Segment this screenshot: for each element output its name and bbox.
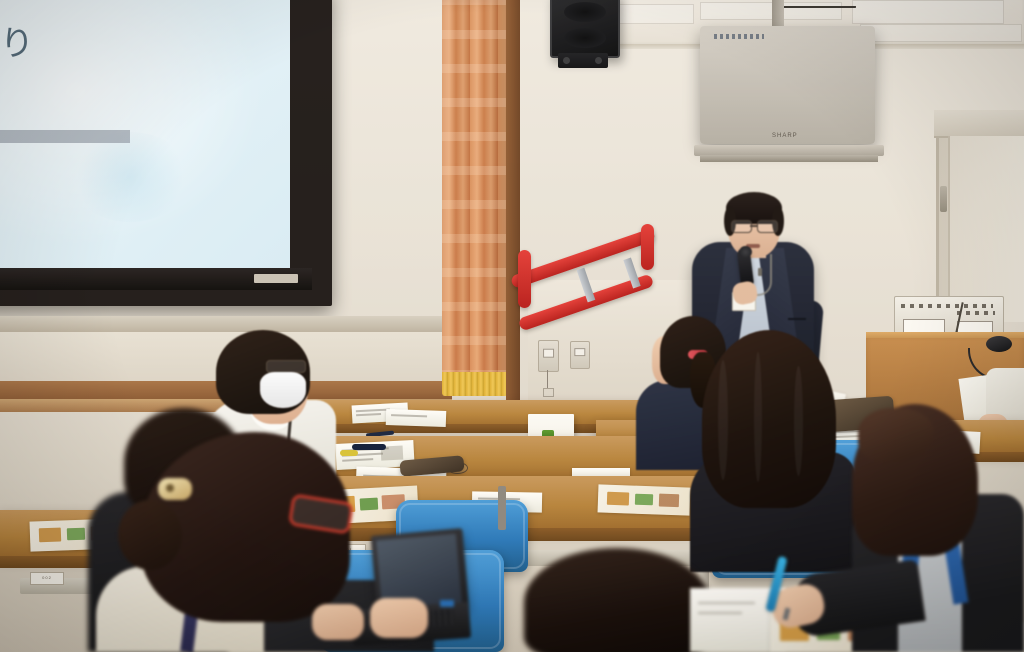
handout-document	[386, 409, 447, 427]
back-of-head-center-hair	[524, 548, 710, 652]
table-label-tag: 002	[30, 572, 64, 585]
projection-screen-surface: 児一時預かり について 福祉課 グループ 025.10.31	[0, 0, 290, 268]
presenter-eyeglasses-lens-left	[731, 220, 752, 233]
wall-control-panel-left[interactable]	[538, 340, 559, 372]
handrail-return-right	[641, 224, 654, 270]
highlighter-pen	[340, 450, 358, 456]
white-face-mask	[260, 372, 306, 408]
slide-divider-rule	[0, 130, 130, 143]
slide-title-line2: について	[0, 68, 260, 116]
wall-tv-monitor: 香川県医療的ケア児一時預かり 環境整備事業について 香川県障害福祉課 地域生活支…	[700, 26, 875, 144]
whiteboard-rail	[0, 316, 452, 332]
hair-clip-detail	[166, 484, 174, 492]
gold-hair-clip	[158, 478, 192, 500]
presenter-eyeglasses-bridge	[750, 225, 757, 227]
interior-door[interactable]	[948, 136, 1024, 322]
curtain-fringe	[442, 372, 508, 396]
slide-subtitle-line1: 福祉課	[0, 198, 210, 225]
longhair-woman-hair	[702, 330, 836, 508]
window-curtain	[432, 0, 528, 404]
tv-shelf-lower	[700, 155, 878, 162]
pen	[352, 444, 386, 450]
presenter-eyeglasses-lens-right	[757, 220, 778, 233]
interior-door-header	[934, 110, 1024, 138]
slide-title-line1: 児一時預かり	[0, 20, 260, 68]
color-brochure	[598, 484, 691, 515]
speaker-bolt	[595, 57, 602, 64]
wall-control-panel-right[interactable]	[570, 341, 590, 369]
tv-brand-label: SHARP	[772, 133, 798, 139]
curtain-fabric	[442, 0, 508, 386]
projection-screen-frame: 児一時預かり について 福祉課 グループ 025.10.31	[0, 0, 332, 306]
presenter-pocket	[788, 318, 806, 320]
curtain-check-pattern	[442, 0, 508, 386]
speaker-bolt	[563, 57, 570, 64]
presenter-lapel-pin	[758, 268, 762, 276]
photo-scene: 児一時預かり について 福祉課 グループ 025.10.31	[0, 0, 1024, 652]
woman-laptop-right-hand	[370, 598, 428, 638]
slide-subtitle-line2: グループ	[0, 230, 210, 257]
podium-microphone[interactable]	[986, 336, 1012, 352]
curtain-wood-post	[506, 0, 520, 404]
screen-clip	[254, 274, 298, 283]
chair-frame	[498, 486, 506, 530]
panel-cord-plug	[543, 388, 554, 397]
tv-top-indicator-strip	[714, 34, 764, 39]
laptop-brand-logo	[440, 600, 454, 607]
door-handle[interactable]	[940, 186, 947, 212]
wall-speaker	[550, 0, 620, 58]
woman-laptop-hair-bun	[118, 500, 182, 570]
tv-ceiling-mount	[772, 0, 784, 28]
handrail-return-left	[518, 250, 531, 308]
woman-laptop-left-hand	[312, 604, 364, 640]
